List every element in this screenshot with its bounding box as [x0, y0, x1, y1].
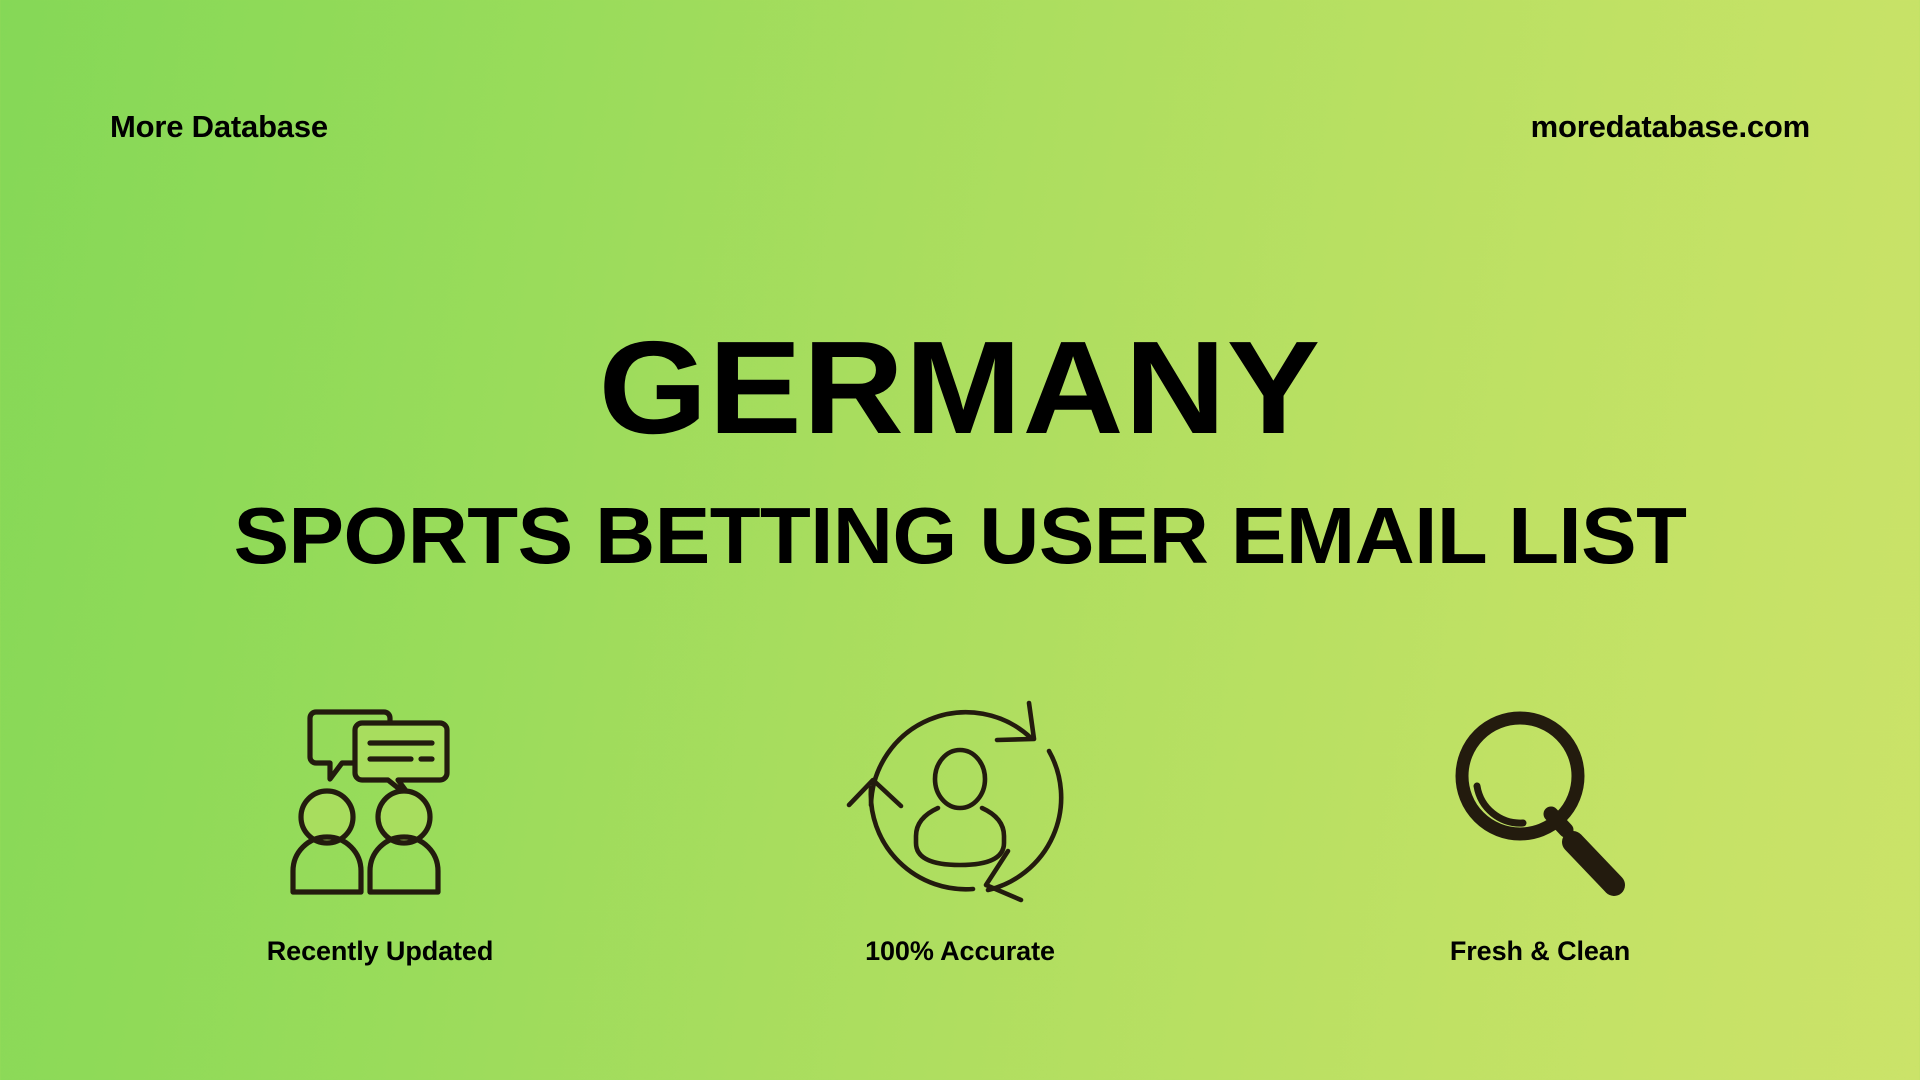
brand-name: More Database	[110, 111, 328, 142]
site-url: moredatabase.com	[1531, 111, 1810, 142]
page-title-country: GERMANY	[599, 322, 1322, 454]
feature-item-accurate: 100% Accurate	[745, 690, 1175, 965]
feature-item-recently-updated: Recently Updated	[165, 690, 595, 965]
feature-item-fresh-clean: Fresh & Clean	[1325, 690, 1755, 965]
person-refresh-cycle-icon	[853, 690, 1068, 910]
banner-header: More Database moredatabase.com	[0, 96, 1920, 156]
feature-label: 100% Accurate	[865, 938, 1055, 965]
headline-block: GERMANY SPORTS BETTING USER EMAIL LIST	[0, 322, 1920, 576]
magnifying-glass-icon	[1445, 690, 1635, 910]
page-subtitle: SPORTS BETTING USER EMAIL LIST	[0, 496, 1920, 576]
two-people-chat-icon	[280, 690, 480, 910]
features-row: Recently Updated	[0, 690, 1920, 965]
feature-label: Recently Updated	[267, 938, 493, 965]
feature-label: Fresh & Clean	[1450, 938, 1630, 965]
